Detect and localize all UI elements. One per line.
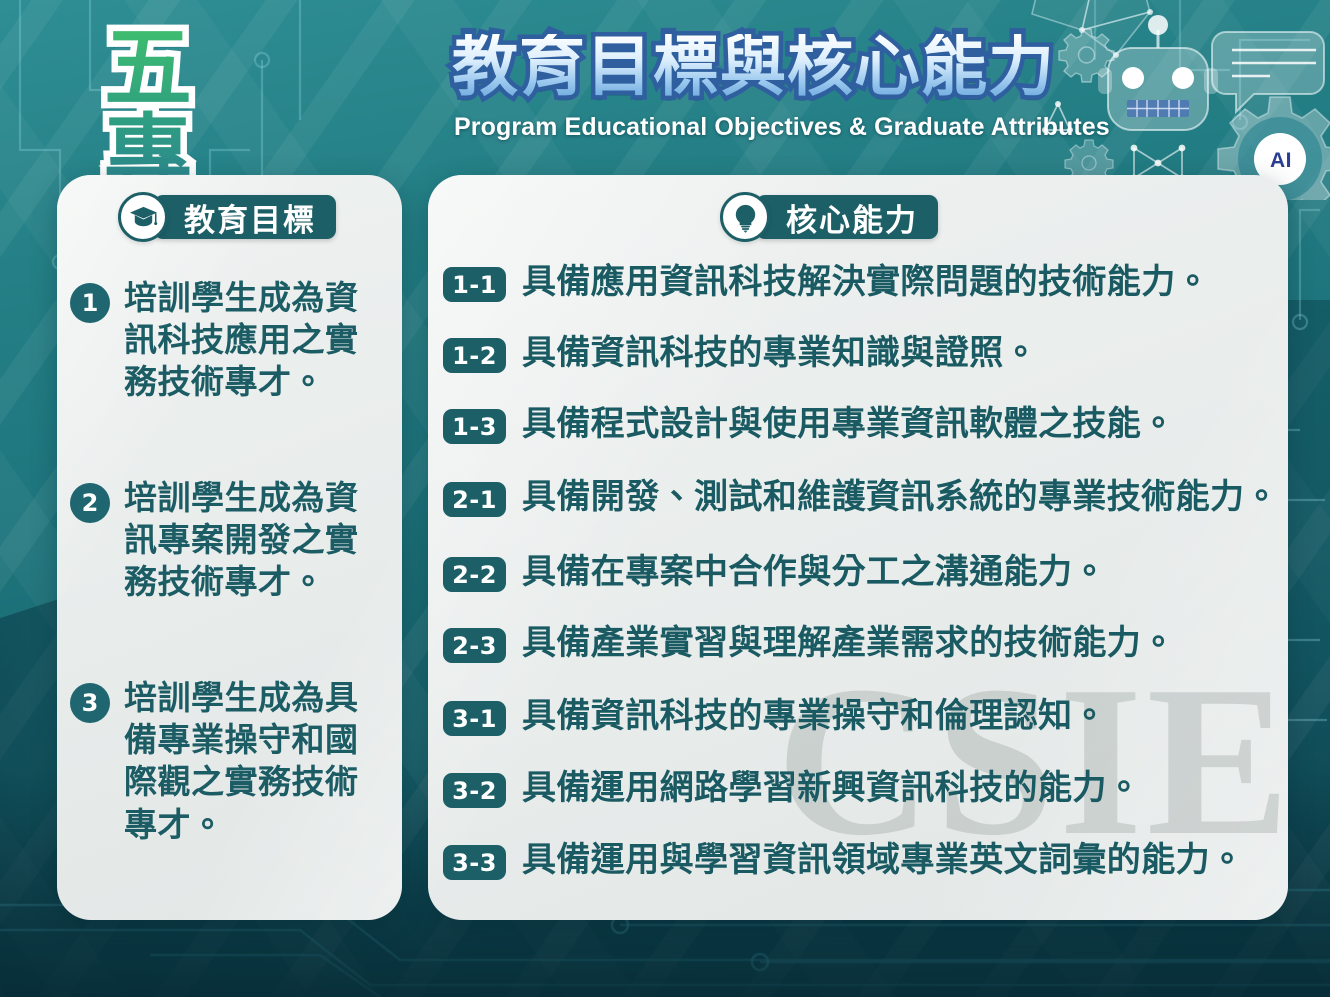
competency-item: 2-1 具備開發、測試和維護資訊系統的專業技術能力。 — [443, 477, 1279, 518]
competency-text: 具備運用與學習資訊領域專業英文詞彙的能力。 — [522, 840, 1244, 881]
objective-number: 2 — [70, 483, 110, 523]
objective-item: 1 培訓學生成為資訊科技應用之實務技術專才。 — [70, 277, 400, 404]
competency-code: 2-2 — [443, 557, 506, 592]
competency-code: 1-1 — [443, 267, 506, 302]
objective-number: 3 — [70, 683, 110, 723]
competency-text: 具備應用資訊科技解決實際問題的技術能力。 — [522, 262, 1210, 303]
objective-text: 培訓學生成為資訊專案開發之實務技術專才。 — [124, 477, 382, 604]
robot-head-icon — [1098, 15, 1218, 130]
competency-text: 具備資訊科技的專業操守和倫理認知。 — [522, 696, 1107, 737]
competency-item: 3-1 具備資訊科技的專業操守和倫理認知。 — [443, 696, 1107, 737]
educational-objectives-heading-label: 教育目標 — [154, 195, 336, 239]
csie-watermark: CSIE — [776, 653, 1288, 868]
competency-text: 具備在專案中合作與分工之溝通能力。 — [522, 552, 1107, 593]
competency-item: 2-3 具備產業實習與理解產業需求的技術能力。 — [443, 623, 1176, 664]
lightbulb-icon — [720, 192, 770, 242]
objective-number: 1 — [70, 283, 110, 323]
competency-item: 2-2 具備在專案中合作與分工之溝通能力。 — [443, 552, 1107, 593]
competency-item: 1-2 具備資訊科技的專業知識與證照。 — [443, 333, 1038, 374]
header: 五專部 五專部 教育目標與核心能力 教育目標與核心能力 Program Educ… — [0, 0, 1330, 172]
slide-root: 五專部 五專部 教育目標與核心能力 教育目標與核心能力 Program Educ… — [0, 0, 1330, 997]
ai-decoration-cluster: AI — [1030, 0, 1330, 200]
objective-text: 培訓學生成為資訊科技應用之實務技術專才。 — [124, 277, 382, 404]
competency-code: 1-3 — [443, 409, 506, 444]
competency-text: 具備運用網路學習新興資訊科技的能力。 — [522, 768, 1141, 809]
core-competencies-heading-label: 核心能力 — [756, 195, 938, 239]
competency-item: 3-2 具備運用網路學習新興資訊科技的能力。 — [443, 768, 1141, 809]
educational-objectives-heading: 教育目標 — [118, 192, 336, 242]
ai-badge-label: AI — [1267, 149, 1295, 173]
competency-item: 1-3 具備程式設計與使用專業資訊軟體之技能。 — [443, 404, 1176, 445]
competency-text: 具備開發、測試和維護資訊系統的專業技術能力。 — [522, 477, 1279, 518]
speech-bubble-icon — [1212, 32, 1324, 112]
competency-code: 2-1 — [443, 482, 506, 517]
page-subtitle: Program Educational Objectives & Graduat… — [454, 113, 1110, 142]
competency-text: 具備產業實習與理解產業需求的技術能力。 — [522, 623, 1176, 664]
competency-text: 具備資訊科技的專業知識與證照。 — [522, 333, 1038, 374]
objective-item: 2 培訓學生成為資訊專案開發之實務技術專才。 — [70, 477, 400, 604]
core-competencies-heading: 核心能力 — [720, 192, 938, 242]
competency-text: 具備程式設計與使用專業資訊軟體之技能。 — [522, 404, 1176, 445]
graduation-cap-icon — [118, 192, 168, 242]
competency-code: 1-2 — [443, 338, 506, 373]
page-title-text: 教育目標與核心能力 — [452, 34, 1055, 100]
competency-code: 2-3 — [443, 628, 506, 663]
competency-item: 1-1 具備應用資訊科技解決實際問題的技術能力。 — [443, 262, 1210, 303]
competency-code: 3-1 — [443, 701, 506, 736]
objective-text: 培訓學生成為具備專業操守和國際觀之實務技術專才。 — [124, 677, 382, 846]
competency-item: 3-3 具備運用與學習資訊領域專業英文詞彙的能力。 — [443, 840, 1244, 881]
competency-code: 3-2 — [443, 773, 506, 808]
gear-icon — [1059, 29, 1114, 82]
competency-code: 3-3 — [443, 845, 506, 880]
objective-item: 3 培訓學生成為具備專業操守和國際觀之實務技術專才。 — [70, 677, 400, 846]
